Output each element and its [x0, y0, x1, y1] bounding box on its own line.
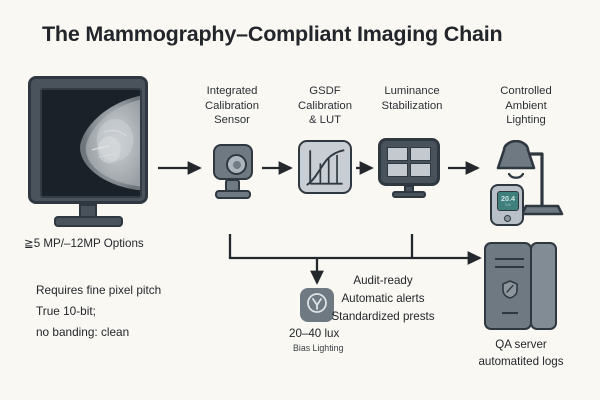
luminance-monitor-base: [392, 191, 426, 198]
sensor-lens-ring: [226, 154, 247, 175]
sensor-foot: [215, 190, 251, 199]
step-label-gsdf: GSDF Calibration & LUT: [282, 84, 368, 128]
diagram-canvas: The Mammography–Compliant Imaging Chain: [0, 0, 600, 400]
step-label-calibration-sensor: Integrated Calibration Sensor: [188, 84, 276, 128]
monitor-grid-icon[interactable]: [378, 138, 444, 200]
gsdf-curve-icon[interactable]: [298, 140, 352, 194]
step4-line1: Controlled: [478, 84, 574, 99]
light-meter[interactable]: 20.4 lux: [490, 184, 524, 226]
step-label-ambient-lighting: Controlled Ambient Lighting: [478, 84, 574, 128]
qa-notes: Audit-ready Automatic alerts Standardize…: [331, 272, 434, 326]
ambient-lighting-group[interactable]: 20.4 lux: [482, 140, 578, 226]
light-meter-unit: lux: [505, 203, 510, 207]
mammogram-image: [42, 90, 140, 196]
calibration-sensor-icon[interactable]: [210, 144, 256, 202]
step1-line2: Calibration: [188, 99, 276, 114]
luminance-test-grid: [387, 147, 431, 177]
step-label-luminance: Luminance Stabilization: [368, 84, 456, 113]
step2-line3: & LUT: [282, 113, 368, 128]
bias-lighting-caption: Bias Lighting: [293, 343, 343, 353]
shield-icon: [502, 280, 518, 299]
mammography-display[interactable]: [28, 76, 156, 224]
step2-line1: GSDF: [282, 84, 368, 99]
light-meter-value: 20.4: [501, 195, 515, 202]
monitor-base: [54, 216, 123, 227]
sensor-lens: [233, 161, 241, 169]
server-side-panel: [530, 242, 557, 330]
qa-server-icon[interactable]: [484, 242, 558, 330]
qa-note-2: Automatic alerts: [331, 290, 434, 308]
bias-lighting-range: 20–40 lux: [289, 327, 339, 340]
sensor-head: [213, 144, 253, 180]
server-front-panel: [484, 242, 532, 330]
light-meter-display: 20.4 lux: [497, 191, 519, 211]
monitor-screen: [40, 88, 142, 198]
qa-server-caption: QA server automatited logs: [478, 336, 563, 370]
qa-note-3: Standardized prests: [331, 308, 434, 326]
step3-line2: Stabilization: [368, 99, 456, 114]
step2-line2: Calibration: [282, 99, 368, 114]
server-caption-line1: QA server: [478, 336, 563, 353]
server-drive-slot: [495, 258, 524, 260]
grid-cell: [387, 147, 408, 161]
step4-line2: Ambient: [478, 99, 574, 114]
qa-note-1: Audit-ready: [331, 272, 434, 290]
display-note-3: no banding: clean: [36, 322, 161, 343]
display-caption: ≧5 MP/–12MP Options: [24, 236, 144, 250]
server-drive-slot: [495, 266, 524, 268]
server-caption-line2: automatited logs: [478, 353, 563, 370]
step1-line1: Integrated: [188, 84, 276, 99]
display-note-2: True 10-bit;: [36, 301, 161, 322]
grid-cell: [410, 163, 431, 177]
server-vent: [502, 312, 518, 314]
step3-line1: Luminance: [368, 84, 456, 99]
display-notes: Requires fine pixel pitch True 10-bit; n…: [36, 280, 161, 343]
monitor-bezel: [28, 76, 148, 204]
bias-lighting-icon[interactable]: [300, 288, 334, 322]
grid-cell: [387, 163, 408, 177]
light-meter-button[interactable]: [504, 215, 511, 222]
step4-line3: Lighting: [478, 113, 574, 128]
display-note-1: Requires fine pixel pitch: [36, 280, 161, 301]
grid-cell: [410, 147, 431, 161]
step1-line3: Sensor: [188, 113, 276, 128]
gsdf-curve-graphic: [300, 142, 350, 192]
bulb-icon: [300, 288, 334, 322]
luminance-monitor-bezel: [378, 138, 440, 186]
page-title: The Mammography–Compliant Imaging Chain: [42, 22, 502, 47]
